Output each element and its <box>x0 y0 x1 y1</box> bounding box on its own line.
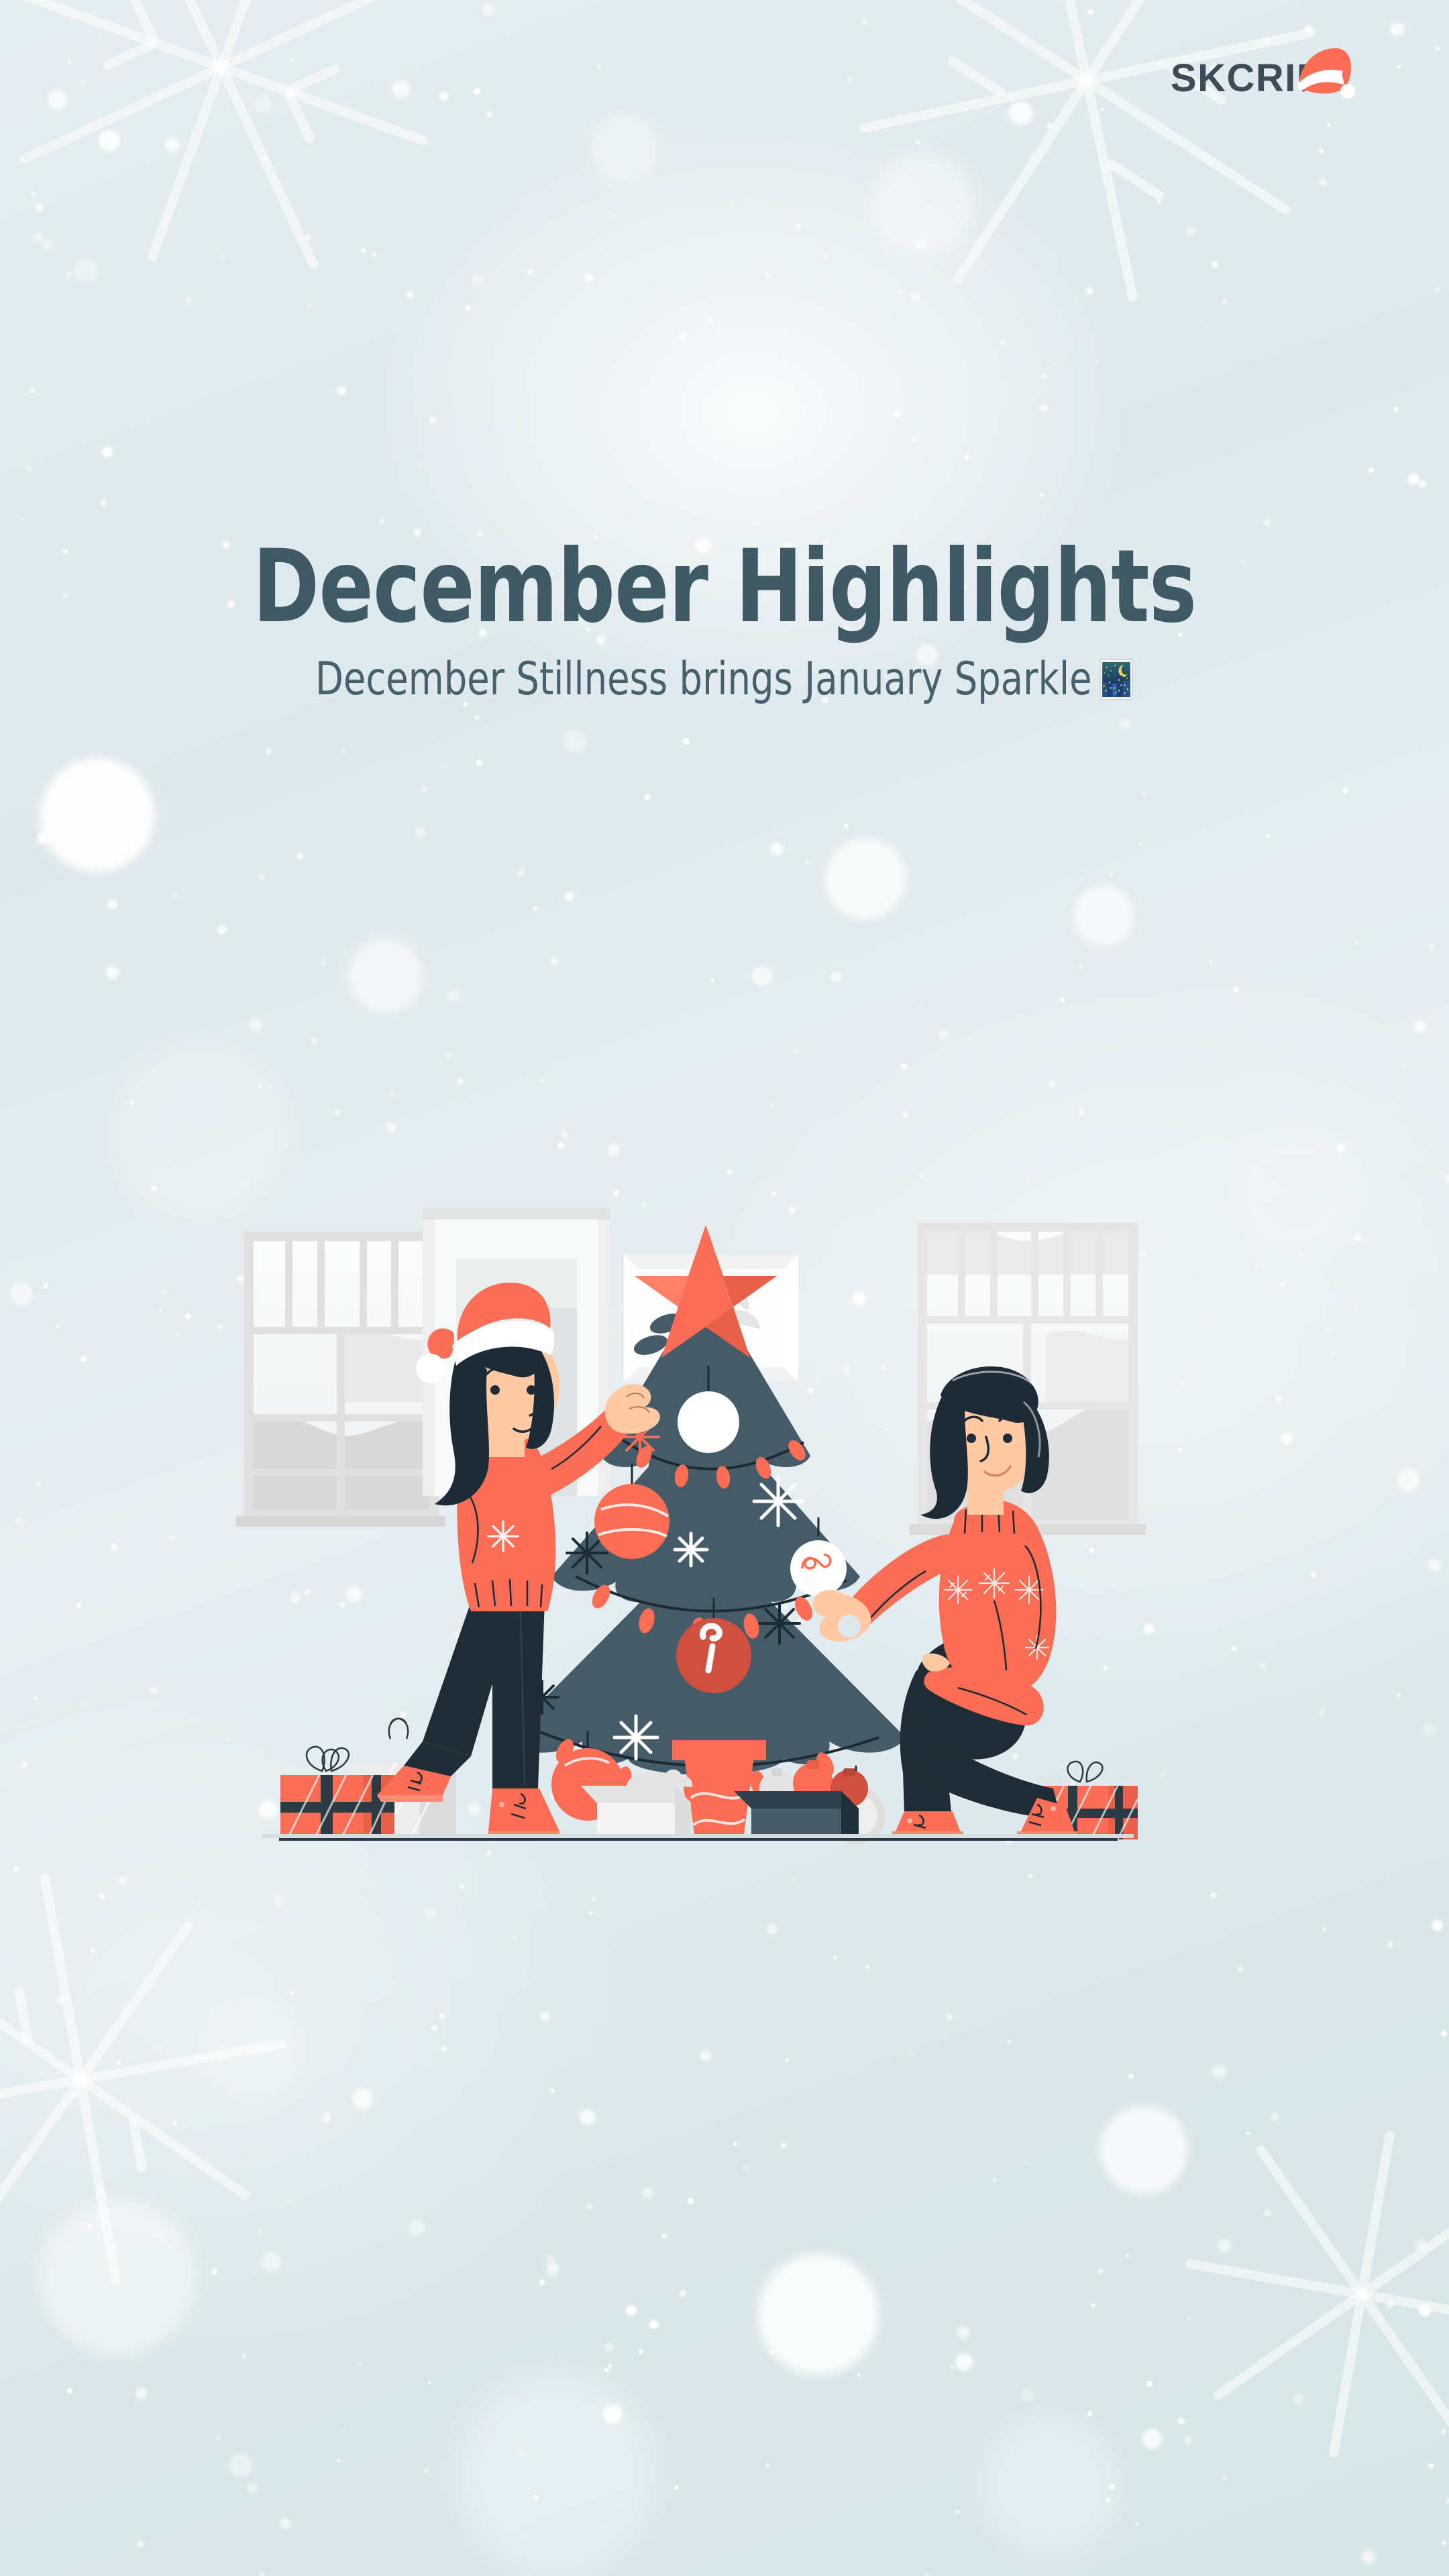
ornament-red-large <box>594 1484 669 1559</box>
ornament-white-swirl <box>790 1540 847 1597</box>
heading-block: December Highlights December Stillness b… <box>0 537 1449 705</box>
ornament-white-top <box>678 1391 739 1453</box>
page-subtitle-text: December Stillness brings January Sparkl… <box>315 655 1092 705</box>
two-people-decorating-christmas-tree-illustration <box>221 1201 1228 1865</box>
page-title: December Highlights <box>145 537 1304 637</box>
ground-line <box>262 1834 1134 1841</box>
left-window <box>236 1232 445 1527</box>
poster-canvas: SKCRIPT December Highlights December Sti… <box>0 0 1449 2576</box>
gift-box-red-left <box>280 1747 394 1839</box>
page-subtitle: December Stillness brings January Sparkl… <box>145 655 1304 705</box>
night-with-stars-emoji <box>1099 658 1134 701</box>
skcript-logo[interactable]: SKCRIPT <box>1171 59 1348 98</box>
santa-hat-icon <box>1281 44 1355 105</box>
